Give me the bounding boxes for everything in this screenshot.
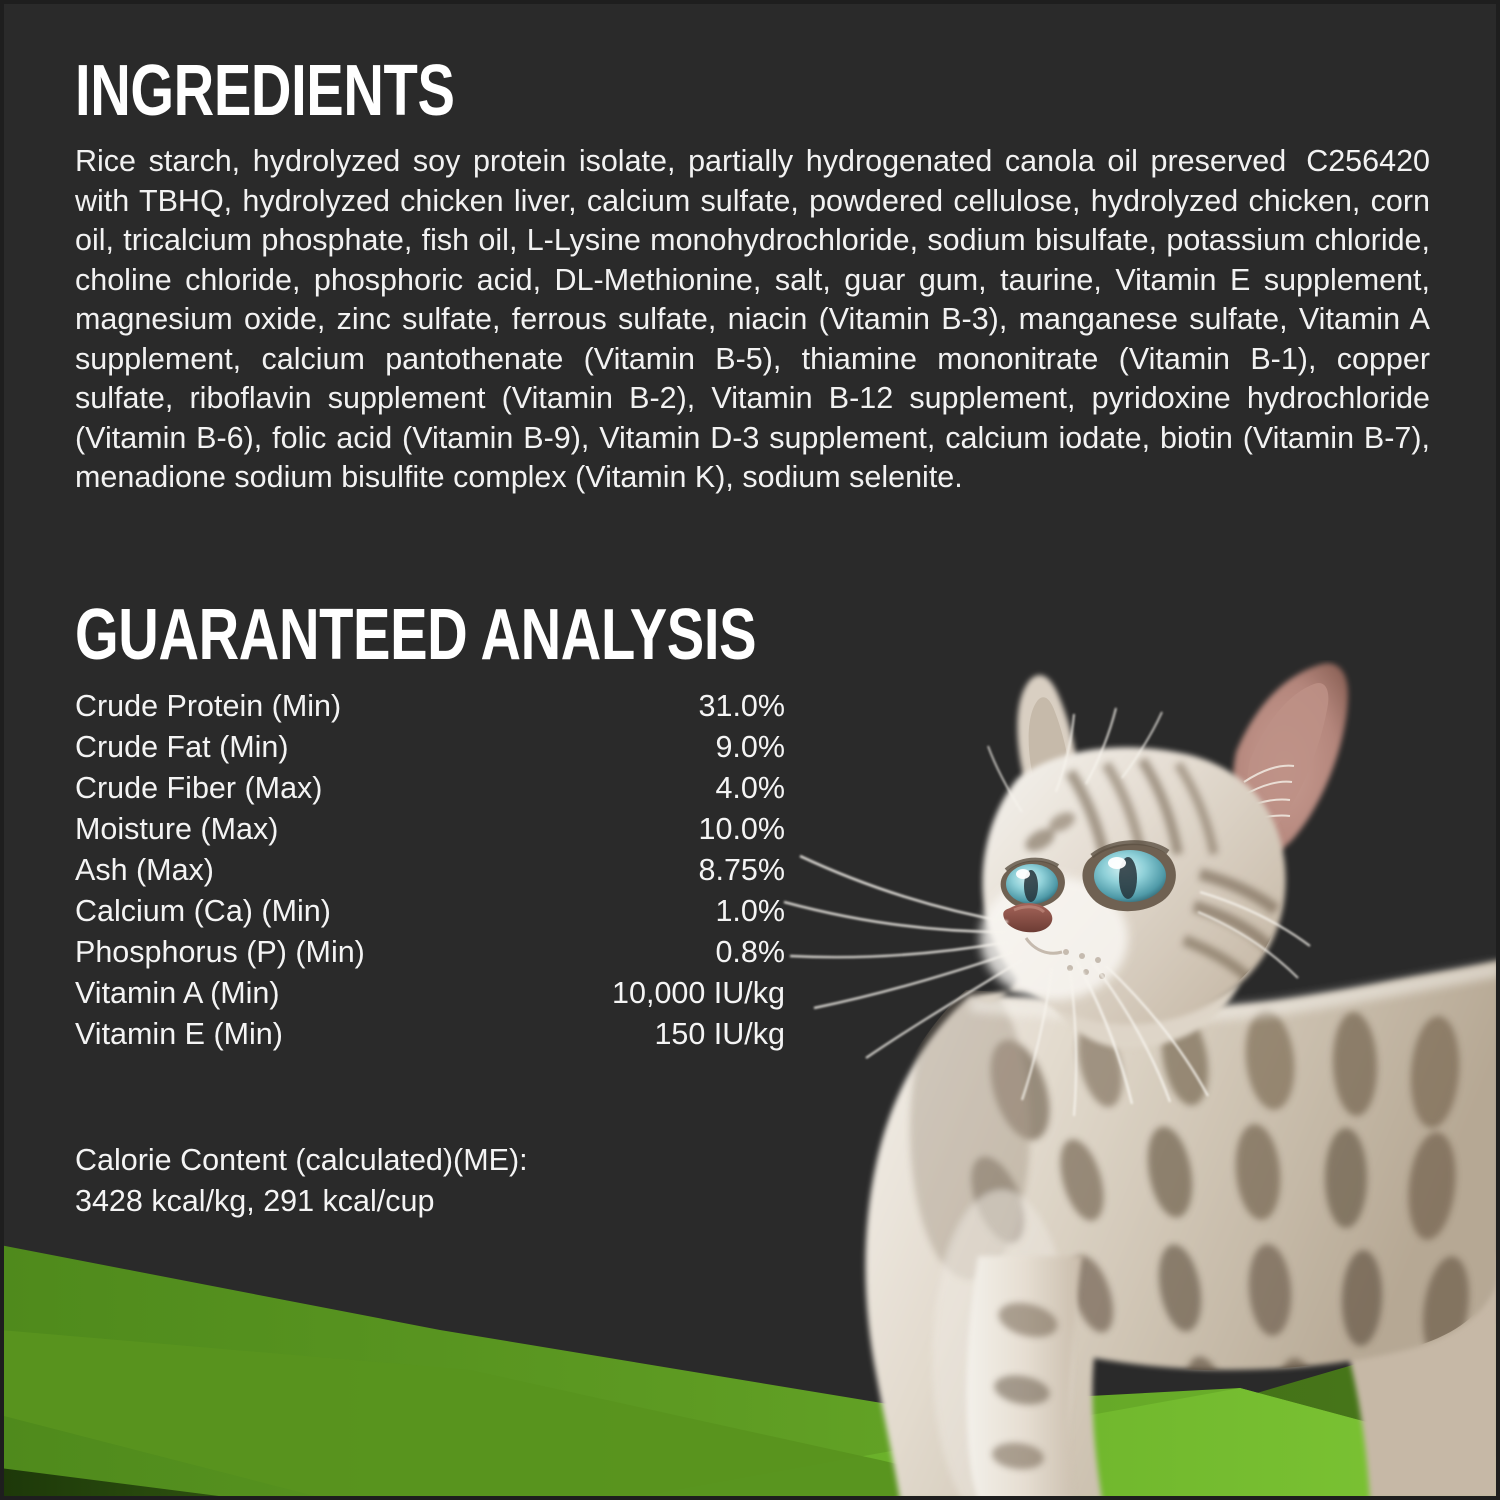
- ingredients-text: Rice starch, hydrolyzed soy protein isol…: [75, 144, 1430, 494]
- cat-photo: [770, 660, 1500, 1500]
- product-code: C256420: [1306, 142, 1430, 181]
- cat-eye-right: [1082, 843, 1175, 912]
- analysis-nutrient: Vitamin E (Min): [75, 1014, 520, 1055]
- product-label-panel: INGREDIENTS C256420 Rice starch, hydroly…: [0, 0, 1500, 1500]
- analysis-row: Crude Fat (Min)9.0%: [75, 727, 785, 768]
- analysis-nutrient: Ash (Max): [75, 850, 520, 891]
- ingredients-list: C256420 Rice starch, hydrolyzed soy prot…: [75, 142, 1430, 497]
- calorie-content-label: Calorie Content (calculated)(ME):: [75, 1140, 775, 1181]
- analysis-nutrient: Calcium (Ca) (Min): [75, 891, 520, 932]
- analysis-row: Moisture (Max)10.0%: [75, 809, 785, 850]
- guaranteed-analysis-rows: Crude Protein (Min)31.0%Crude Fat (Min)9…: [75, 686, 785, 1055]
- ingredients-heading: INGREDIENTS: [75, 58, 1132, 124]
- analysis-row: Crude Protein (Min)31.0%: [75, 686, 785, 727]
- analysis-nutrient: Crude Fiber (Max): [75, 768, 520, 809]
- cat-head: [980, 747, 1286, 1024]
- analysis-nutrient: Crude Fat (Min): [75, 727, 520, 768]
- guaranteed-analysis-heading: GUARANTEED ANALYSIS: [75, 602, 629, 668]
- guaranteed-analysis-table: Crude Protein (Min)31.0%Crude Fat (Min)9…: [75, 686, 785, 1055]
- analysis-row: Calcium (Ca) (Min)1.0%: [75, 891, 785, 932]
- analysis-nutrient: Moisture (Max): [75, 809, 520, 850]
- analysis-nutrient: Vitamin A (Min): [75, 973, 520, 1014]
- analysis-row: Vitamin A (Min)10,000 IU/kg: [75, 973, 785, 1014]
- analysis-amount: 10.0%: [520, 809, 785, 850]
- ingredients-section: INGREDIENTS C256420 Rice starch, hydroly…: [75, 58, 1430, 498]
- cat-front-leg: [966, 1256, 1082, 1500]
- analysis-amount: 1.0%: [520, 891, 785, 932]
- analysis-nutrient: Crude Protein (Min): [75, 686, 520, 727]
- analysis-amount: 8.75%: [520, 850, 785, 891]
- analysis-row: Phosphorus (P) (Min)0.8%: [75, 932, 785, 973]
- analysis-row: Crude Fiber (Max)4.0%: [75, 768, 785, 809]
- analysis-amount: 31.0%: [520, 686, 785, 727]
- analysis-row: Ash (Max)8.75%: [75, 850, 785, 891]
- analysis-amount: 0.8%: [520, 932, 785, 973]
- analysis-row: Vitamin E (Min)150 IU/kg: [75, 1014, 785, 1055]
- analysis-nutrient: Phosphorus (P) (Min): [75, 932, 520, 973]
- analysis-amount: 4.0%: [520, 768, 785, 809]
- guaranteed-analysis-section: GUARANTEED ANALYSIS Crude Protein (Min)3…: [75, 602, 785, 1055]
- analysis-amount: 10,000 IU/kg: [520, 973, 785, 1014]
- calorie-content-section: Calorie Content (calculated)(ME): 3428 k…: [75, 1140, 775, 1222]
- analysis-amount: 150 IU/kg: [520, 1014, 785, 1055]
- analysis-amount: 9.0%: [520, 727, 785, 768]
- calorie-content-value: 3428 kcal/kg, 291 kcal/cup: [75, 1181, 775, 1222]
